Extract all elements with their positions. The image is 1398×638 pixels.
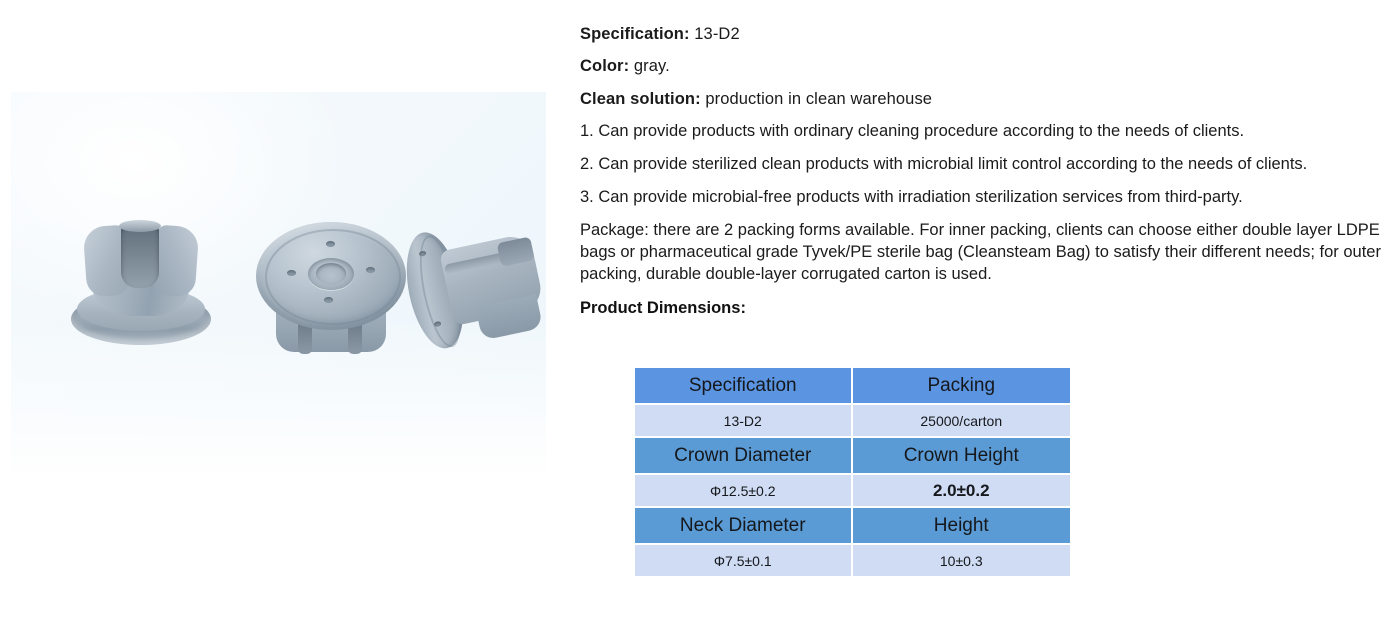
stopper-top-view — [256, 222, 406, 357]
color-line: Color: gray. — [580, 56, 1388, 77]
table-cell: Specification — [635, 368, 853, 405]
stopper-center-bore — [316, 263, 346, 284]
table-cell: Crown Height — [853, 438, 1071, 475]
product-photo — [11, 92, 546, 480]
table-cell: Packing — [853, 368, 1071, 405]
stopper-side-view — [71, 220, 211, 345]
stopper-vent-dot — [326, 241, 335, 247]
product-description: Specification: 13-D2 Color: gray. Clean … — [580, 24, 1388, 330]
table-cell: 10±0.3 — [853, 545, 1071, 576]
table-cell: Height — [853, 508, 1071, 545]
clean-bullet-2: 2. Can provide sterilized clean products… — [580, 154, 1388, 176]
stopper-slot — [121, 224, 159, 288]
stopper-lobe-right — [153, 225, 200, 298]
product-dimensions-heading: Product Dimensions: — [580, 299, 1388, 318]
specification-label: Specification: — [580, 25, 690, 43]
table-row: Neck Diameter Height — [635, 508, 1070, 545]
table-row: 13-D2 25000/carton — [635, 405, 1070, 438]
table-cell: Neck Diameter — [635, 508, 853, 545]
package-paragraph: Package: there are 2 packing forms avail… — [580, 220, 1388, 286]
table-body: Specification Packing 13-D2 25000/carton… — [635, 368, 1070, 576]
clean-solution-label: Clean solution: — [580, 90, 701, 108]
clean-solution-value: production in clean warehouse — [705, 90, 932, 108]
product-detail-page: Specification: 13-D2 Color: gray. Clean … — [0, 0, 1398, 638]
table-cell: 2.0±0.2 — [853, 475, 1071, 508]
table-cell: 13-D2 — [635, 405, 853, 438]
stopper-slot-lip — [119, 220, 161, 232]
clean-bullet-3: 3. Can provide microbial-free products w… — [580, 187, 1388, 209]
stopper-vent-dot — [287, 270, 296, 276]
stopper-vent-dot — [324, 297, 333, 303]
product-dimensions-table: Specification Packing 13-D2 25000/carton… — [635, 368, 1070, 576]
clean-solution-line: Clean solution: production in clean ware… — [580, 89, 1388, 110]
table-row: Crown Diameter Crown Height — [635, 438, 1070, 475]
table-cell: Φ12.5±0.2 — [635, 475, 853, 508]
table-row: Specification Packing — [635, 368, 1070, 405]
stopper-vent-dot — [366, 267, 375, 273]
table-row: Φ7.5±0.1 10±0.3 — [635, 545, 1070, 576]
specification-value: 13-D2 — [694, 25, 739, 43]
table-cell: Crown Diameter — [635, 438, 853, 475]
table-cell: 25000/carton — [853, 405, 1071, 438]
table-row: Φ12.5±0.2 2.0±0.2 — [635, 475, 1070, 508]
clean-bullet-1: 1. Can provide products with ordinary cl… — [580, 121, 1388, 143]
table-cell: Φ7.5±0.1 — [635, 545, 853, 576]
color-label: Color: — [580, 57, 629, 75]
specification-line: Specification: 13-D2 — [580, 24, 1388, 45]
color-value: gray. — [634, 57, 670, 75]
